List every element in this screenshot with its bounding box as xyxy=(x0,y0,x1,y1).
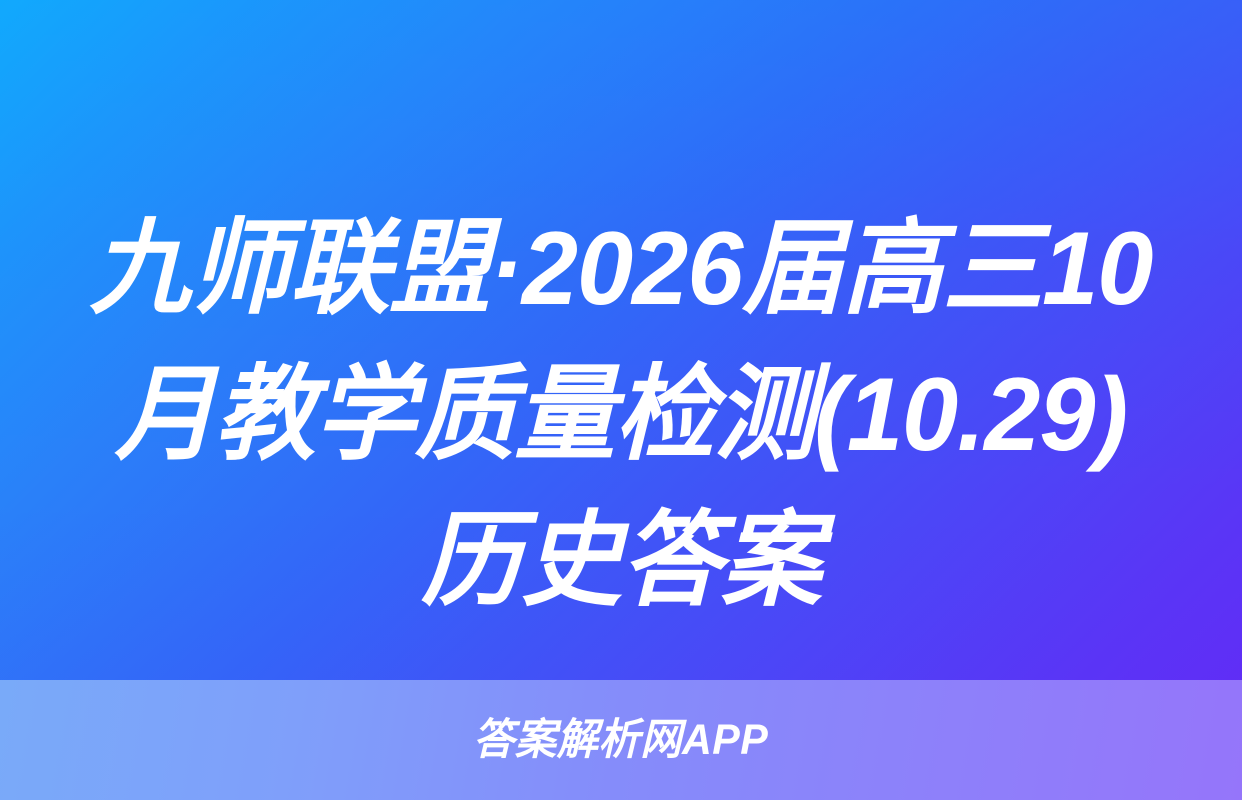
brand-watermark-label: 答案解析网APP xyxy=(473,719,768,762)
cover-card: 九师联盟·2026届高三10 月教学质量检测(10.29) 历史答案 答案解析网… xyxy=(0,0,1242,800)
title-line-1: 九师联盟·2026届高三10 xyxy=(46,196,1196,342)
title-line-2: 月教学质量检测(10.29) xyxy=(46,342,1196,488)
page-title: 九师联盟·2026届高三10 月教学质量检测(10.29) 历史答案 xyxy=(0,196,1242,634)
footer-brand-band: 答案解析网APP xyxy=(0,680,1242,800)
title-line-3: 历史答案 xyxy=(46,488,1196,634)
